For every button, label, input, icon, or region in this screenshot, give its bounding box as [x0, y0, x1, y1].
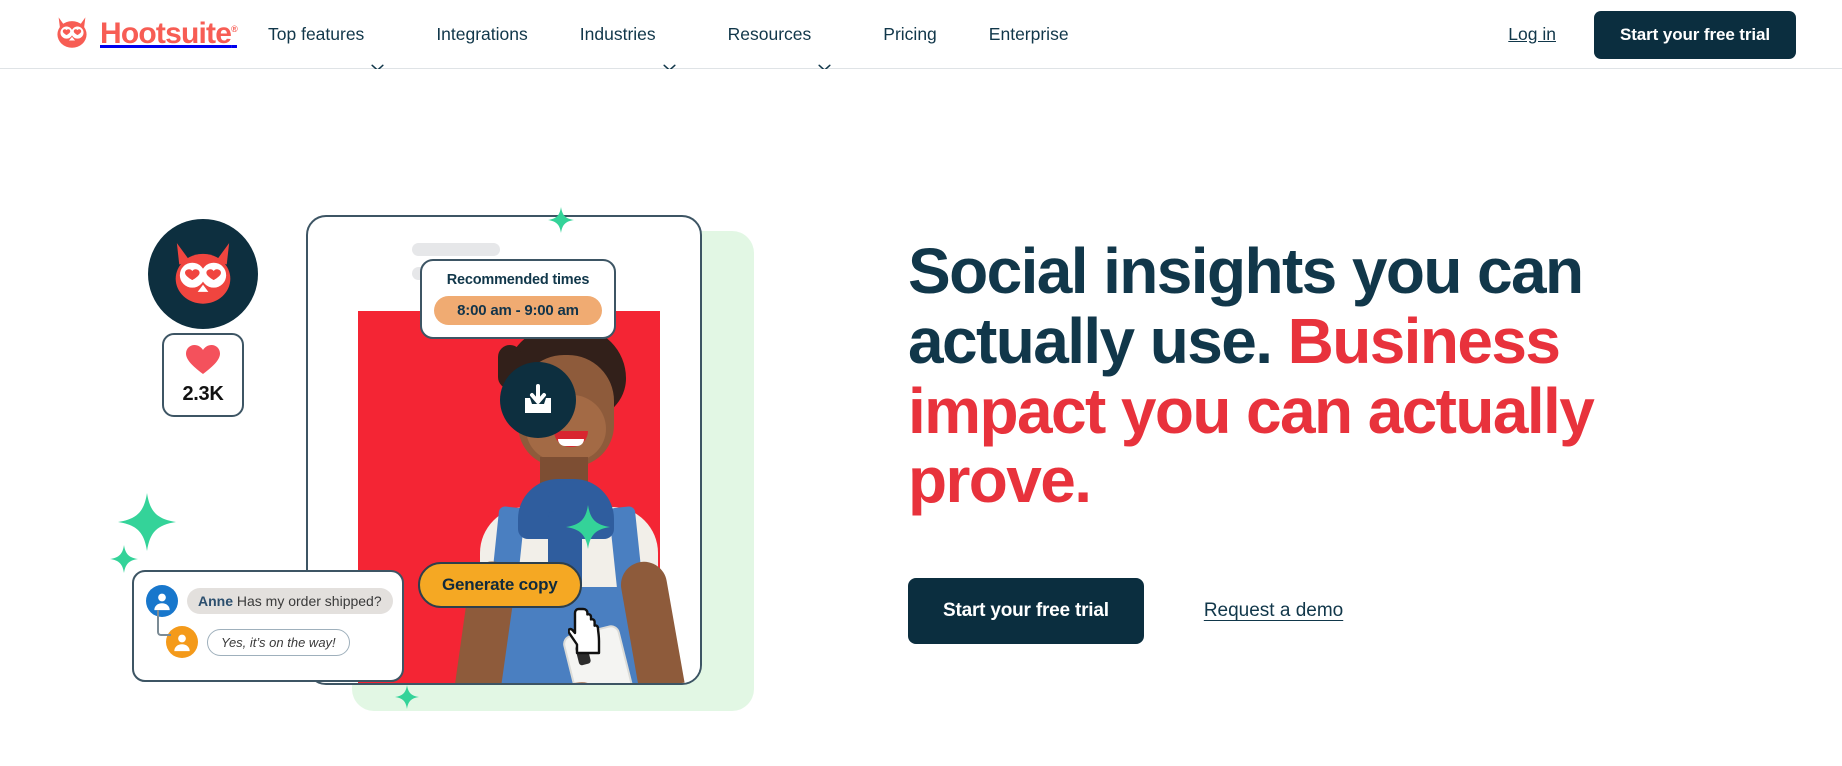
request-a-demo-link[interactable]: Request a demo: [1204, 600, 1343, 622]
inbox-download-icon[interactable]: [500, 362, 576, 438]
nav-label: Industries: [580, 0, 656, 69]
hero-cta-row: Start your free trial Request a demo: [908, 578, 1708, 644]
hero-section: Social insights you can actually use. Bu…: [0, 69, 1842, 766]
chat-message-reply: Yes, it’s on the way!: [146, 626, 390, 658]
nav-item-resources[interactable]: Resources: [702, 0, 858, 69]
header-actions: Log in Start your free trial: [1508, 0, 1796, 69]
nav-label: Resources: [728, 0, 812, 69]
sparkle-icon: [118, 493, 176, 551]
header-start-free-trial-button[interactable]: Start your free trial: [1594, 11, 1796, 59]
hero-illustration: 2.3K Recommended times 8:00 am - 9:00 am: [110, 187, 770, 747]
hero-copy: Social insights you can actually use. Bu…: [908, 237, 1708, 644]
chat-sender-name: Anne: [198, 593, 233, 609]
likes-badge: 2.3K: [162, 333, 244, 417]
chevron-down-icon: [818, 32, 831, 40]
registered-mark: ®: [231, 24, 237, 34]
nav-label: Top features: [268, 0, 364, 69]
sparkle-icon: [566, 505, 610, 549]
skeleton-line: [412, 243, 500, 256]
hootsuite-logo[interactable]: Hootsuite®: [52, 12, 237, 51]
pointer-hand-cursor-icon: [568, 607, 606, 655]
site-header: Hootsuite® Top features Integrations Ind…: [0, 0, 1842, 69]
hero-start-free-trial-button[interactable]: Start your free trial: [908, 578, 1144, 644]
sparkle-icon: [395, 685, 419, 709]
chat-preview-card: Anne Has my order shipped? Yes, it’s on …: [132, 570, 404, 682]
recommended-times-title: Recommended times: [434, 272, 602, 288]
recommended-times-card: Recommended times 8:00 am - 9:00 am: [420, 259, 616, 339]
nav-label: Enterprise: [989, 0, 1069, 69]
sparkle-icon: [110, 545, 138, 573]
sparkle-icon: [548, 207, 574, 233]
nav-item-top-features[interactable]: Top features: [268, 0, 410, 69]
generate-copy-button[interactable]: Generate copy: [418, 562, 582, 608]
nav-item-industries[interactable]: Industries: [554, 0, 702, 69]
nav-label: Pricing: [883, 0, 937, 69]
recommended-time-slot: 8:00 am - 9:00 am: [434, 296, 602, 325]
chat-message-incoming: Anne Has my order shipped?: [146, 585, 390, 617]
heart-icon: [185, 344, 221, 381]
chat-message-text: Has my order shipped?: [237, 593, 382, 609]
nav-item-pricing[interactable]: Pricing: [857, 0, 963, 69]
chat-bubble-incoming: Anne Has my order shipped?: [187, 588, 393, 614]
chat-bubble-reply: Yes, it’s on the way!: [207, 629, 350, 656]
chevron-down-icon: [663, 32, 676, 40]
hootsuite-owl-logo: [52, 15, 92, 49]
main-navigation: Top features Integrations Industries Res…: [268, 0, 1095, 69]
page-title: Social insights you can actually use. Bu…: [908, 237, 1698, 516]
nav-item-enterprise[interactable]: Enterprise: [963, 0, 1095, 69]
user-avatar-icon: [166, 626, 198, 658]
login-link[interactable]: Log in: [1508, 24, 1594, 45]
nav-item-integrations[interactable]: Integrations: [410, 0, 553, 69]
hootsuite-owl-avatar-icon: [148, 219, 258, 329]
hootsuite-wordmark: Hootsuite®: [100, 12, 237, 51]
likes-count: 2.3K: [182, 383, 223, 406]
nav-label: Integrations: [436, 0, 527, 69]
chevron-down-icon: [371, 32, 384, 40]
